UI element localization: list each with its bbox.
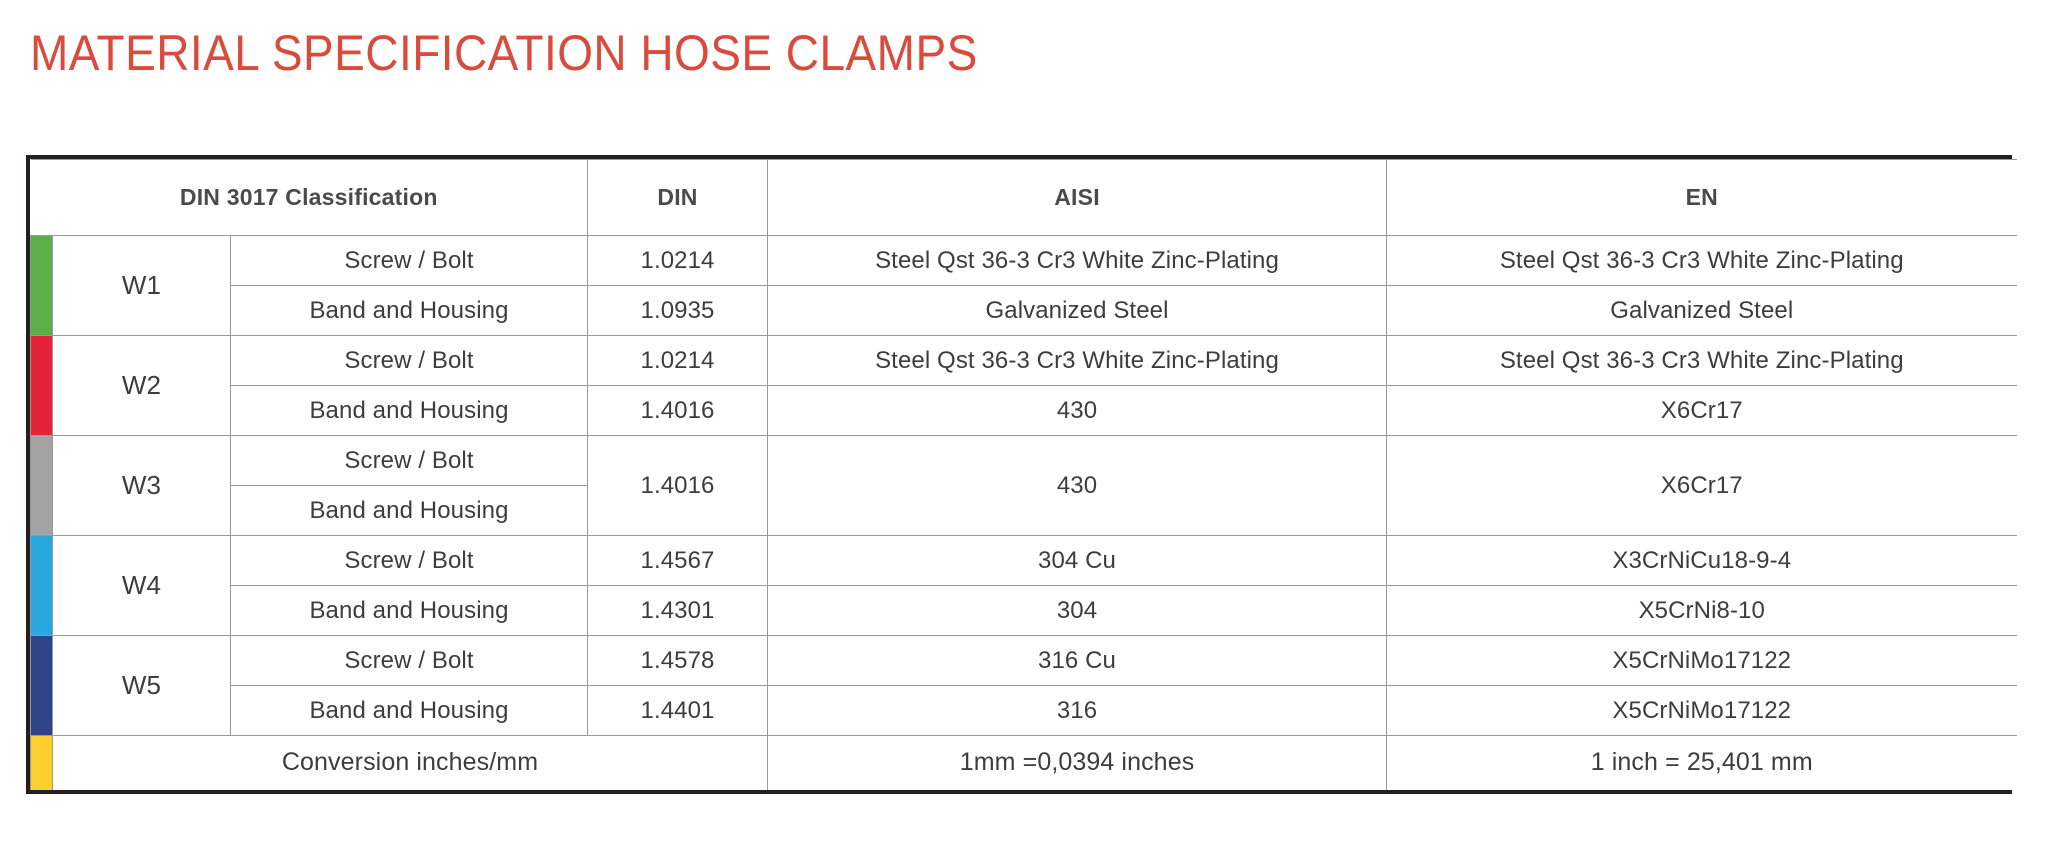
aisi-value: 304 — [768, 586, 1387, 636]
swatch-fill — [31, 436, 52, 535]
din-value: 1.4301 — [588, 586, 768, 636]
din-value: 1.0935 — [588, 286, 768, 336]
swatch-fill — [31, 636, 52, 735]
column-header-aisi: AISI — [768, 160, 1387, 236]
component-label: Band and Housing — [231, 286, 588, 336]
en-value: X5CrNiMo17122 — [1387, 636, 2017, 686]
table-header: DIN 3017 Classification DIN AISI EN — [31, 160, 2017, 236]
aisi-value: Steel Qst 36-3 Cr3 White Zinc-Plating — [768, 236, 1387, 286]
color-swatch-w2 — [31, 336, 53, 436]
page-title: MATERIAL SPECIFICATION HOSE CLAMPS — [30, 24, 978, 82]
material-spec-table-wrapper: DIN 3017 Classification DIN AISI EN W1 S… — [26, 155, 2012, 794]
classification-code-w2: W2 — [53, 336, 231, 436]
conversion-mm-to-inches: 1mm =0,0394 inches — [768, 736, 1387, 790]
conversion-inch-to-mm: 1 inch = 25,401 mm — [1387, 736, 2017, 790]
aisi-value: 430 — [768, 436, 1387, 536]
table-row: Band and Housing 1.4016 430 X6Cr17 — [31, 386, 2017, 436]
conversion-label: Conversion inches/mm — [53, 736, 768, 790]
din-value: 1.4016 — [588, 386, 768, 436]
din-value: 1.4016 — [588, 436, 768, 536]
din-value: 1.4401 — [588, 686, 768, 736]
din-value: 1.4567 — [588, 536, 768, 586]
en-value: X5CrNi8-10 — [1387, 586, 2017, 636]
en-value: X5CrNiMo17122 — [1387, 686, 2017, 736]
component-label: Screw / Bolt — [231, 336, 588, 386]
classification-code-w4: W4 — [53, 536, 231, 636]
component-label: Band and Housing — [231, 486, 588, 536]
en-value: X3CrNiCu18-9-4 — [1387, 536, 2017, 586]
column-header-classification: DIN 3017 Classification — [31, 160, 588, 236]
aisi-value: Steel Qst 36-3 Cr3 White Zinc-Plating — [768, 336, 1387, 386]
din-value: 1.4578 — [588, 636, 768, 686]
en-value: Steel Qst 36-3 Cr3 White Zinc-Plating — [1387, 236, 2017, 286]
aisi-value: 316 Cu — [768, 636, 1387, 686]
component-label: Screw / Bolt — [231, 536, 588, 586]
table-row: W1 Screw / Bolt 1.0214 Steel Qst 36-3 Cr… — [31, 236, 2017, 286]
component-label: Screw / Bolt — [231, 636, 588, 686]
swatch-fill — [31, 736, 52, 790]
table-row: W5 Screw / Bolt 1.4578 316 Cu X5CrNiMo17… — [31, 636, 2017, 686]
aisi-value: 304 Cu — [768, 536, 1387, 586]
en-value: Galvanized Steel — [1387, 286, 2017, 336]
conversion-row: Conversion inches/mm 1mm =0,0394 inches … — [31, 736, 2017, 790]
din-value: 1.0214 — [588, 236, 768, 286]
classification-code-w3: W3 — [53, 436, 231, 536]
swatch-fill — [31, 336, 52, 435]
table-row: Band and Housing 1.4301 304 X5CrNi8-10 — [31, 586, 2017, 636]
classification-code-w1: W1 — [53, 236, 231, 336]
table-row: W2 Screw / Bolt 1.0214 Steel Qst 36-3 Cr… — [31, 336, 2017, 386]
component-label: Screw / Bolt — [231, 436, 588, 486]
component-label: Band and Housing — [231, 586, 588, 636]
swatch-fill — [31, 536, 52, 635]
component-label: Screw / Bolt — [231, 236, 588, 286]
color-swatch-w1 — [31, 236, 53, 336]
aisi-value: 430 — [768, 386, 1387, 436]
swatch-fill — [31, 236, 52, 335]
table-row: Band and Housing 1.0935 Galvanized Steel… — [31, 286, 2017, 336]
table-row: W4 Screw / Bolt 1.4567 304 Cu X3CrNiCu18… — [31, 536, 2017, 586]
en-value: X6Cr17 — [1387, 436, 2017, 536]
table-body: W1 Screw / Bolt 1.0214 Steel Qst 36-3 Cr… — [31, 236, 2017, 790]
din-value: 1.0214 — [588, 336, 768, 386]
en-value: Steel Qst 36-3 Cr3 White Zinc-Plating — [1387, 336, 2017, 386]
classification-code-w5: W5 — [53, 636, 231, 736]
column-header-en: EN — [1387, 160, 2017, 236]
page-root: MATERIAL SPECIFICATION HOSE CLAMPS DIN 3… — [0, 0, 2047, 868]
header-row: DIN 3017 Classification DIN AISI EN — [31, 160, 2017, 236]
aisi-value: Galvanized Steel — [768, 286, 1387, 336]
color-swatch-conversion — [31, 736, 53, 790]
color-swatch-w3 — [31, 436, 53, 536]
color-swatch-w4 — [31, 536, 53, 636]
en-value: X6Cr17 — [1387, 386, 2017, 436]
material-spec-table: DIN 3017 Classification DIN AISI EN W1 S… — [30, 159, 2017, 790]
table-row: W3 Screw / Bolt 1.4016 430 X6Cr17 — [31, 436, 2017, 486]
aisi-value: 316 — [768, 686, 1387, 736]
column-header-din: DIN — [588, 160, 768, 236]
component-label: Band and Housing — [231, 386, 588, 436]
table-row: Band and Housing 1.4401 316 X5CrNiMo1712… — [31, 686, 2017, 736]
color-swatch-w5 — [31, 636, 53, 736]
component-label: Band and Housing — [231, 686, 588, 736]
